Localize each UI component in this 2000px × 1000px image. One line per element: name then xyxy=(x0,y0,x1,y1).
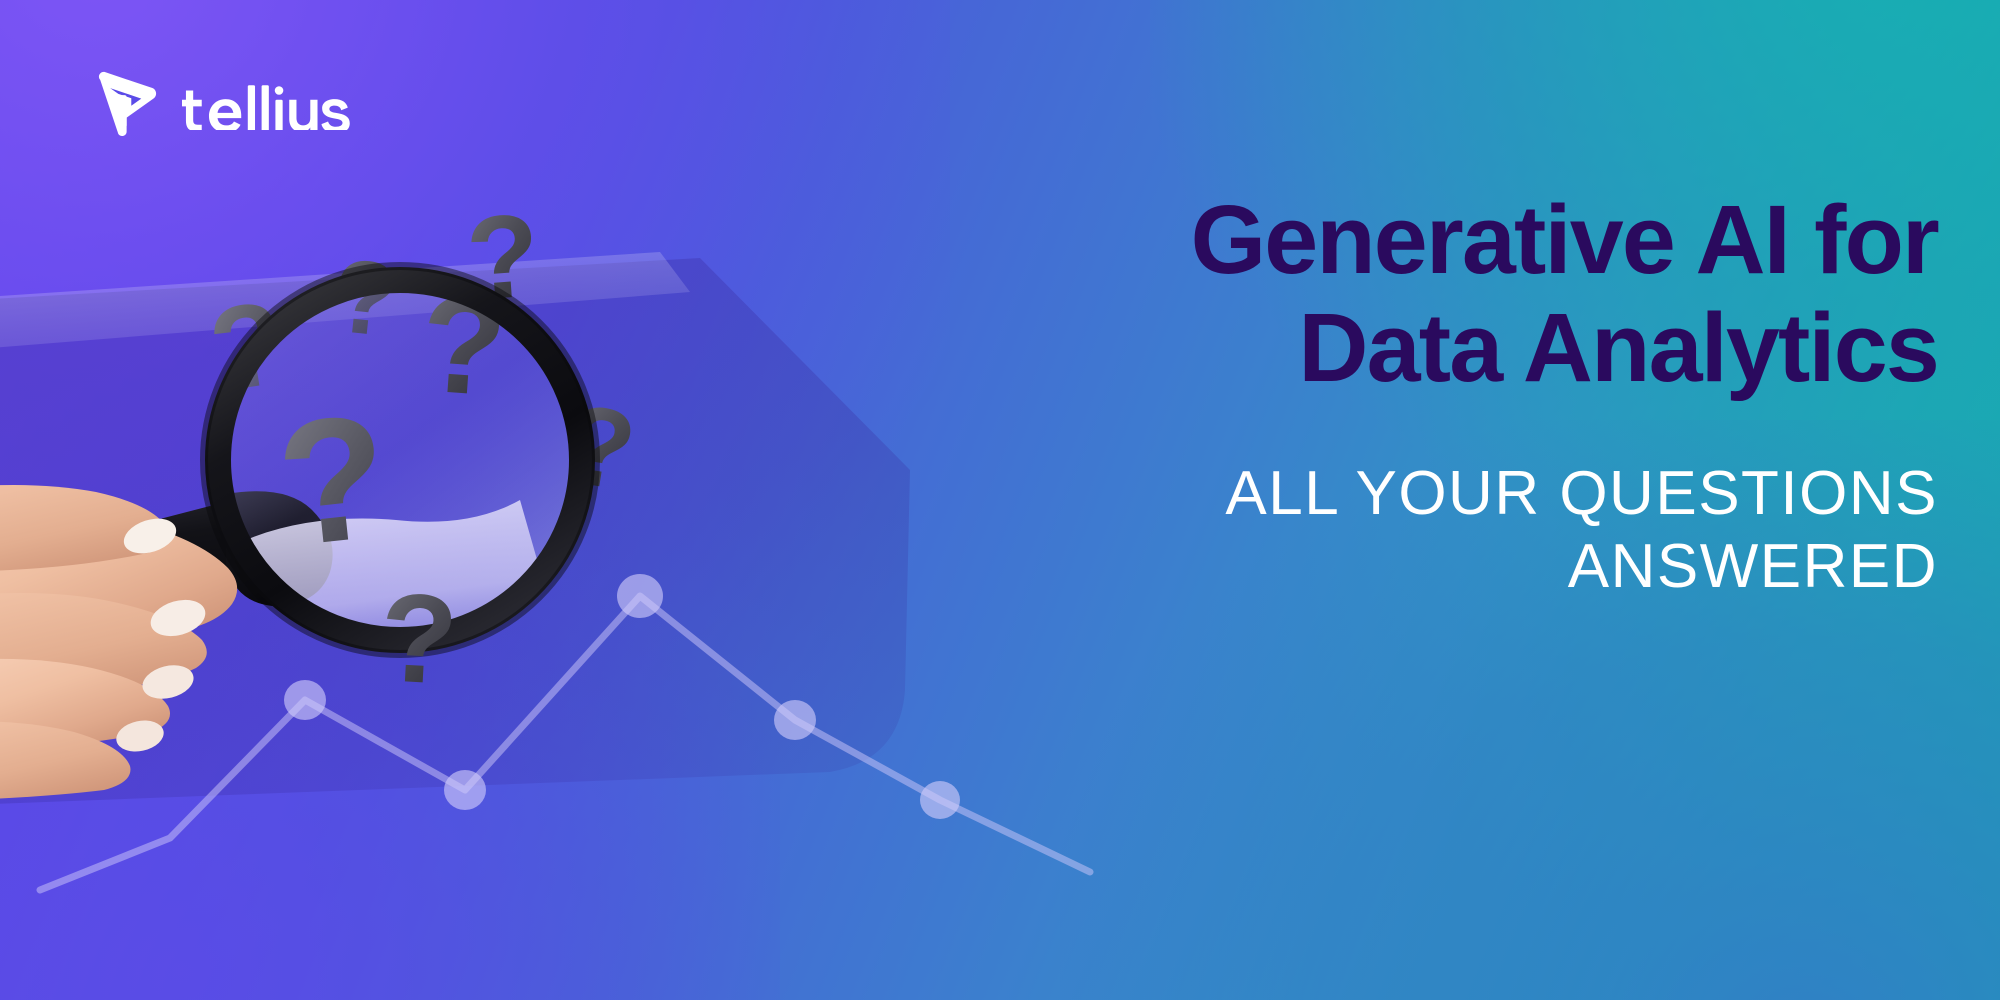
marketing-banner: ? ? ? ? ? xyxy=(0,0,2000,1000)
copy-block: Generative AI for Data Analytics ALL YOU… xyxy=(918,186,1938,604)
page-subtitle: ALL YOUR QUESTIONS ANSWERED xyxy=(918,457,1938,603)
tellius-wordmark xyxy=(182,80,379,130)
subhead-line-1: ALL YOUR QUESTIONS xyxy=(1225,459,1938,528)
question-mark-icon: ? xyxy=(377,566,461,711)
headline-line-2: Data Analytics xyxy=(918,294,1938,402)
page-title: Generative AI for Data Analytics xyxy=(918,186,1938,401)
tellius-triangle-t-icon xyxy=(88,68,162,142)
question-marks-foreground: ? xyxy=(377,566,461,711)
subhead-line-2: ANSWERED xyxy=(918,530,1938,603)
question-mark-icon: ? xyxy=(269,378,396,584)
tellius-logo[interactable] xyxy=(88,68,379,142)
headline-line-1: Generative AI for xyxy=(1191,185,1938,294)
